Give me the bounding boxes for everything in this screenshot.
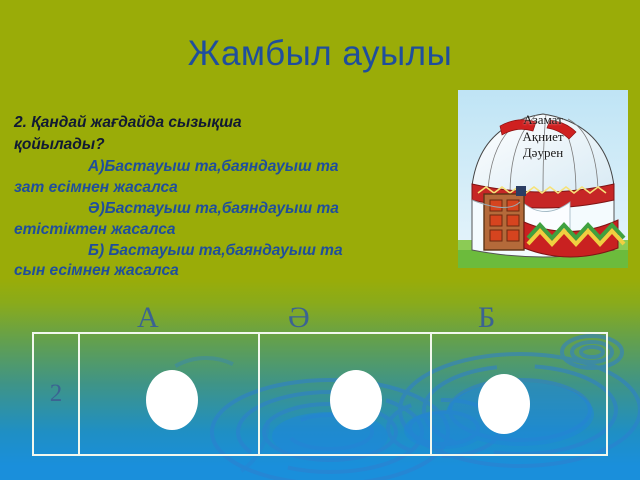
presentation-slide: Жамбыл ауылы 2. Қандай жағдайда сызықша … (0, 0, 640, 480)
option-b-line-2[interactable]: сын есімнен жасалса (14, 261, 444, 282)
column-header-b: Б (478, 303, 495, 333)
option-a-line-1[interactable]: А)Бастауыш та,баяндауыш та (14, 157, 444, 178)
yurt-name-1: Азамат (458, 112, 628, 129)
answer-cell-b[interactable] (432, 334, 606, 454)
answer-marker-b[interactable] (478, 374, 530, 434)
option-e-line-2[interactable]: етістіктен жасалса (14, 220, 444, 241)
answer-table: 2 (32, 332, 608, 456)
answer-column-headers: А Ә Б (0, 303, 640, 335)
answer-cell-e[interactable] (260, 334, 432, 454)
page-title: Жамбыл ауылы (0, 34, 640, 74)
answer-marker-e[interactable] (330, 370, 382, 430)
question-stem-line-1: 2. Қандай жағдайда сызықша (14, 113, 444, 134)
question-stem-line-2: қойылады? (14, 135, 444, 156)
question-block: 2. Қандай жағдайда сызықша қойылады? А)Б… (14, 113, 444, 282)
column-header-a: А (137, 303, 159, 333)
option-e-line-1[interactable]: Ә)Бастауыш та,баяндауыш та (14, 199, 444, 220)
yurt-name-3: Дәурен (458, 145, 628, 162)
option-b-line-1[interactable]: Б) Бастауыш та,баяндауыш та (14, 241, 444, 262)
answer-marker-a[interactable] (146, 370, 198, 430)
answer-cell-a[interactable] (80, 334, 260, 454)
column-header-e: Ә (288, 303, 310, 333)
table-row-number-cell: 2 (34, 334, 80, 454)
yurt-name-labels: Азамат Ақниет Дәурен (458, 112, 628, 162)
option-a-line-2[interactable]: зат есімнен жасалса (14, 178, 444, 199)
yurt-image: Азамат Ақниет Дәурен (458, 90, 628, 268)
yurt-name-2: Ақниет (458, 129, 628, 146)
